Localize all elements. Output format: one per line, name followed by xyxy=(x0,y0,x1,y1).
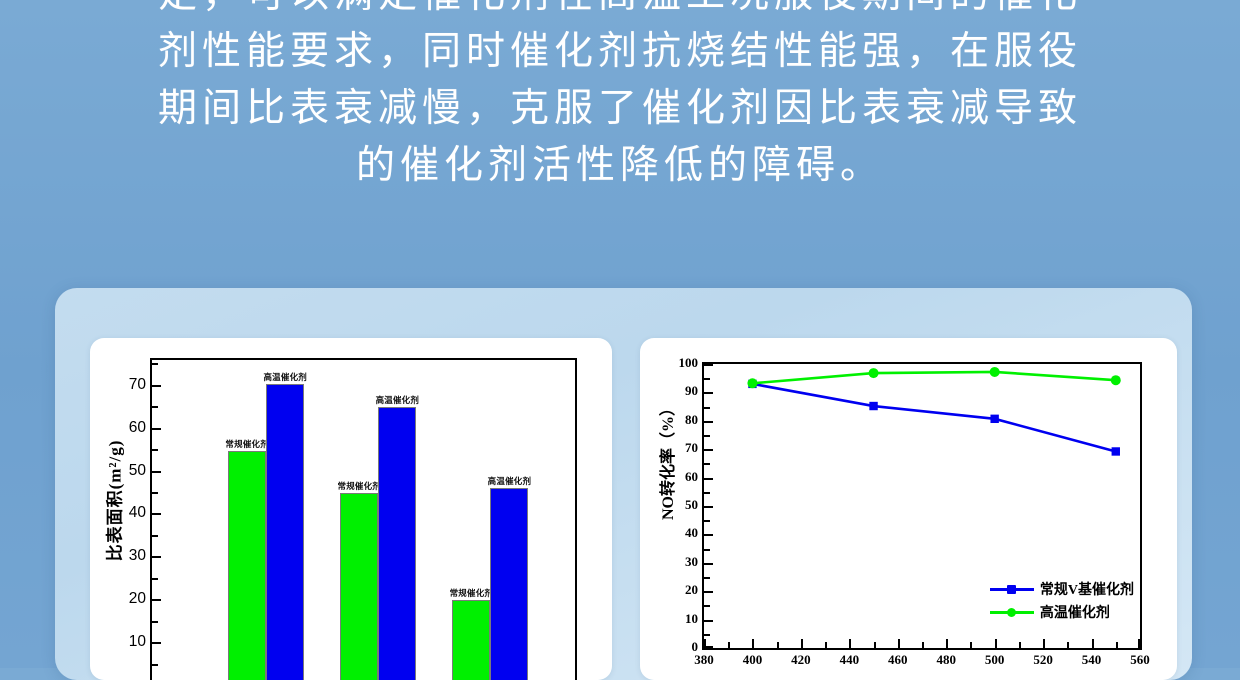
line-y-major-tick xyxy=(704,591,713,593)
line-x-tick-label: 400 xyxy=(743,652,763,668)
line-y-tick-label: 70 xyxy=(672,440,698,456)
data-point-marker xyxy=(990,367,1000,377)
line-y-tick-label: 50 xyxy=(672,497,698,513)
line-x-tick-label: 480 xyxy=(936,652,956,668)
bar-y-major-tick xyxy=(152,513,161,515)
line-y-minor-tick xyxy=(704,492,710,494)
bar-y-tick-label: 60 xyxy=(118,419,146,437)
legend-swatch-blue-square xyxy=(990,583,1034,595)
line-x-minor-tick xyxy=(970,642,972,648)
line-y-major-tick xyxy=(704,534,713,536)
paragraph-line-4: 的催化剂活性降低的障碍。 xyxy=(0,137,1240,194)
line-y-minor-tick xyxy=(704,407,710,409)
line-x-minor-tick xyxy=(777,642,779,648)
bar-y-major-tick xyxy=(152,385,161,387)
data-point-marker xyxy=(869,368,879,378)
line-x-minor-tick xyxy=(874,642,876,648)
line-x-minor-tick xyxy=(825,642,827,648)
data-point-marker xyxy=(990,415,998,423)
data-point-marker xyxy=(869,402,877,410)
line-series-conventional xyxy=(752,384,1115,452)
line-x-tick-label: 420 xyxy=(791,652,811,668)
bar-value-label: 高温催化剂 xyxy=(488,475,532,487)
bar-green xyxy=(228,451,266,680)
paragraph-line-3: 期间比表衰减慢，克服了催化剂因比表衰减导致 xyxy=(0,80,1240,137)
bar-value-label: 常规催化剂 xyxy=(225,438,269,450)
bar-y-major-tick xyxy=(152,599,161,601)
data-point-marker xyxy=(1111,375,1121,385)
line-x-tick-label: 460 xyxy=(888,652,908,668)
line-x-major-tick xyxy=(849,639,851,648)
line-y-minor-tick xyxy=(704,605,710,607)
bar-y-minor-tick xyxy=(152,492,158,494)
line-x-tick-label: 520 xyxy=(1033,652,1053,668)
line-x-minor-tick xyxy=(1067,642,1069,648)
bar-y-major-tick xyxy=(152,428,161,430)
line-chart-card: NO转化率（%） 常规V基催化剂 高温催化剂 01020304050607080… xyxy=(640,338,1177,680)
bar-green xyxy=(340,493,378,680)
paragraph-line-2: 剂性能要求，同时催化剂抗烧结性能强，在服役 xyxy=(0,23,1240,80)
bar-y-minor-tick xyxy=(152,406,158,408)
line-y-major-tick xyxy=(704,506,713,508)
bar-y-major-tick xyxy=(152,471,161,473)
bar-y-tick-label: 40 xyxy=(118,504,146,522)
bar-value-label: 常规催化剂 xyxy=(450,587,494,599)
legend-swatch-green-circle xyxy=(990,606,1034,618)
bar-y-minor-tick xyxy=(152,621,158,623)
line-y-minor-tick xyxy=(704,435,710,437)
line-y-major-tick xyxy=(704,620,713,622)
line-x-tick-label: 500 xyxy=(985,652,1005,668)
bar-chart-card: 比表面积(m²/g) 10203040506070常规催化剂高温催化剂常规催化剂… xyxy=(90,338,612,680)
charts-panel: 比表面积(m²/g) 10203040506070常规催化剂高温催化剂常规催化剂… xyxy=(55,288,1192,680)
bar-chart-plot-area: 10203040506070常规催化剂高温催化剂常规催化剂高温催化剂常规催化剂高… xyxy=(150,358,577,680)
bar-y-major-tick xyxy=(152,556,161,558)
line-y-minor-tick xyxy=(704,577,710,579)
line-x-minor-tick xyxy=(922,642,924,648)
line-y-tick-label: 90 xyxy=(672,383,698,399)
bar-y-tick-label: 50 xyxy=(118,462,146,480)
bar-y-tick-label: 20 xyxy=(118,590,146,608)
line-y-tick-label: 100 xyxy=(672,355,698,371)
bar-blue xyxy=(378,407,416,680)
line-x-major-tick xyxy=(1043,639,1045,648)
bar-value-label: 高温催化剂 xyxy=(263,371,307,383)
bar-y-tick-label: 10 xyxy=(118,633,146,651)
line-y-major-tick xyxy=(704,478,713,480)
legend-label-high-temperature: 高温催化剂 xyxy=(1040,602,1110,622)
line-x-minor-tick xyxy=(1116,642,1118,648)
data-point-marker xyxy=(1112,447,1120,455)
line-y-tick-label: 80 xyxy=(672,412,698,428)
line-y-tick-label: 60 xyxy=(672,469,698,485)
line-y-tick-label: 30 xyxy=(672,554,698,570)
line-y-minor-tick xyxy=(704,463,710,465)
line-y-major-tick xyxy=(704,449,713,451)
line-x-major-tick xyxy=(1092,639,1094,648)
line-x-major-tick xyxy=(1138,639,1140,648)
line-y-major-tick xyxy=(704,563,713,565)
line-x-minor-tick xyxy=(1019,642,1021,648)
line-y-major-tick xyxy=(704,421,713,423)
line-x-minor-tick xyxy=(728,642,730,648)
body-paragraph: 足，可以满足催化剂在高温工况服役期间的催化 剂性能要求，同时催化剂抗烧结性能强，… xyxy=(0,0,1240,194)
line-x-tick-label: 560 xyxy=(1130,652,1150,668)
legend-item-conventional: 常规V基催化剂 xyxy=(990,579,1134,599)
line-y-minor-tick xyxy=(704,634,710,636)
bar-value-label: 常规催化剂 xyxy=(338,480,382,492)
line-x-major-tick xyxy=(995,639,997,648)
line-x-major-tick xyxy=(898,639,900,648)
line-x-major-tick xyxy=(752,639,754,648)
bar-y-tick-label: 30 xyxy=(118,547,146,565)
line-y-tick-label: 20 xyxy=(672,582,698,598)
line-x-tick-label: 380 xyxy=(694,652,714,668)
data-point-marker xyxy=(747,378,757,388)
paragraph-line-1: 足，可以满足催化剂在高温工况服役期间的催化 xyxy=(0,0,1240,23)
line-x-tick-label: 540 xyxy=(1082,652,1102,668)
line-y-minor-tick xyxy=(704,378,710,380)
bar-y-minor-tick xyxy=(152,578,158,580)
legend-item-high-temperature: 高温催化剂 xyxy=(990,602,1134,622)
line-y-major-tick xyxy=(704,364,713,366)
line-y-minor-tick xyxy=(704,549,710,551)
bar-y-minor-tick xyxy=(152,449,158,451)
bar-y-minor-tick xyxy=(152,363,158,365)
line-y-major-tick xyxy=(704,392,713,394)
bar-chart-y-axis-label: 比表面积(m²/g) xyxy=(100,440,125,562)
line-x-major-tick xyxy=(946,639,948,648)
bar-y-minor-tick xyxy=(152,535,158,537)
legend-label-conventional: 常规V基催化剂 xyxy=(1040,579,1134,599)
line-x-major-tick xyxy=(801,639,803,648)
line-chart-legend: 常规V基催化剂 高温催化剂 xyxy=(990,579,1134,622)
line-y-tick-label: 40 xyxy=(672,525,698,541)
bar-value-label: 高温催化剂 xyxy=(376,394,420,406)
bar-y-major-tick xyxy=(152,642,161,644)
bar-y-tick-label: 70 xyxy=(118,376,146,394)
line-chart-plot-area: 常规V基催化剂 高温催化剂 01020304050607080901003804… xyxy=(702,362,1142,650)
line-x-major-tick xyxy=(704,639,706,648)
line-x-tick-label: 440 xyxy=(840,652,860,668)
line-y-minor-tick xyxy=(704,520,710,522)
line-series-high-temperature xyxy=(752,372,1115,383)
bar-blue xyxy=(266,384,304,680)
bar-blue xyxy=(490,488,528,680)
line-y-tick-label: 10 xyxy=(672,611,698,627)
bar-y-minor-tick xyxy=(152,664,158,666)
